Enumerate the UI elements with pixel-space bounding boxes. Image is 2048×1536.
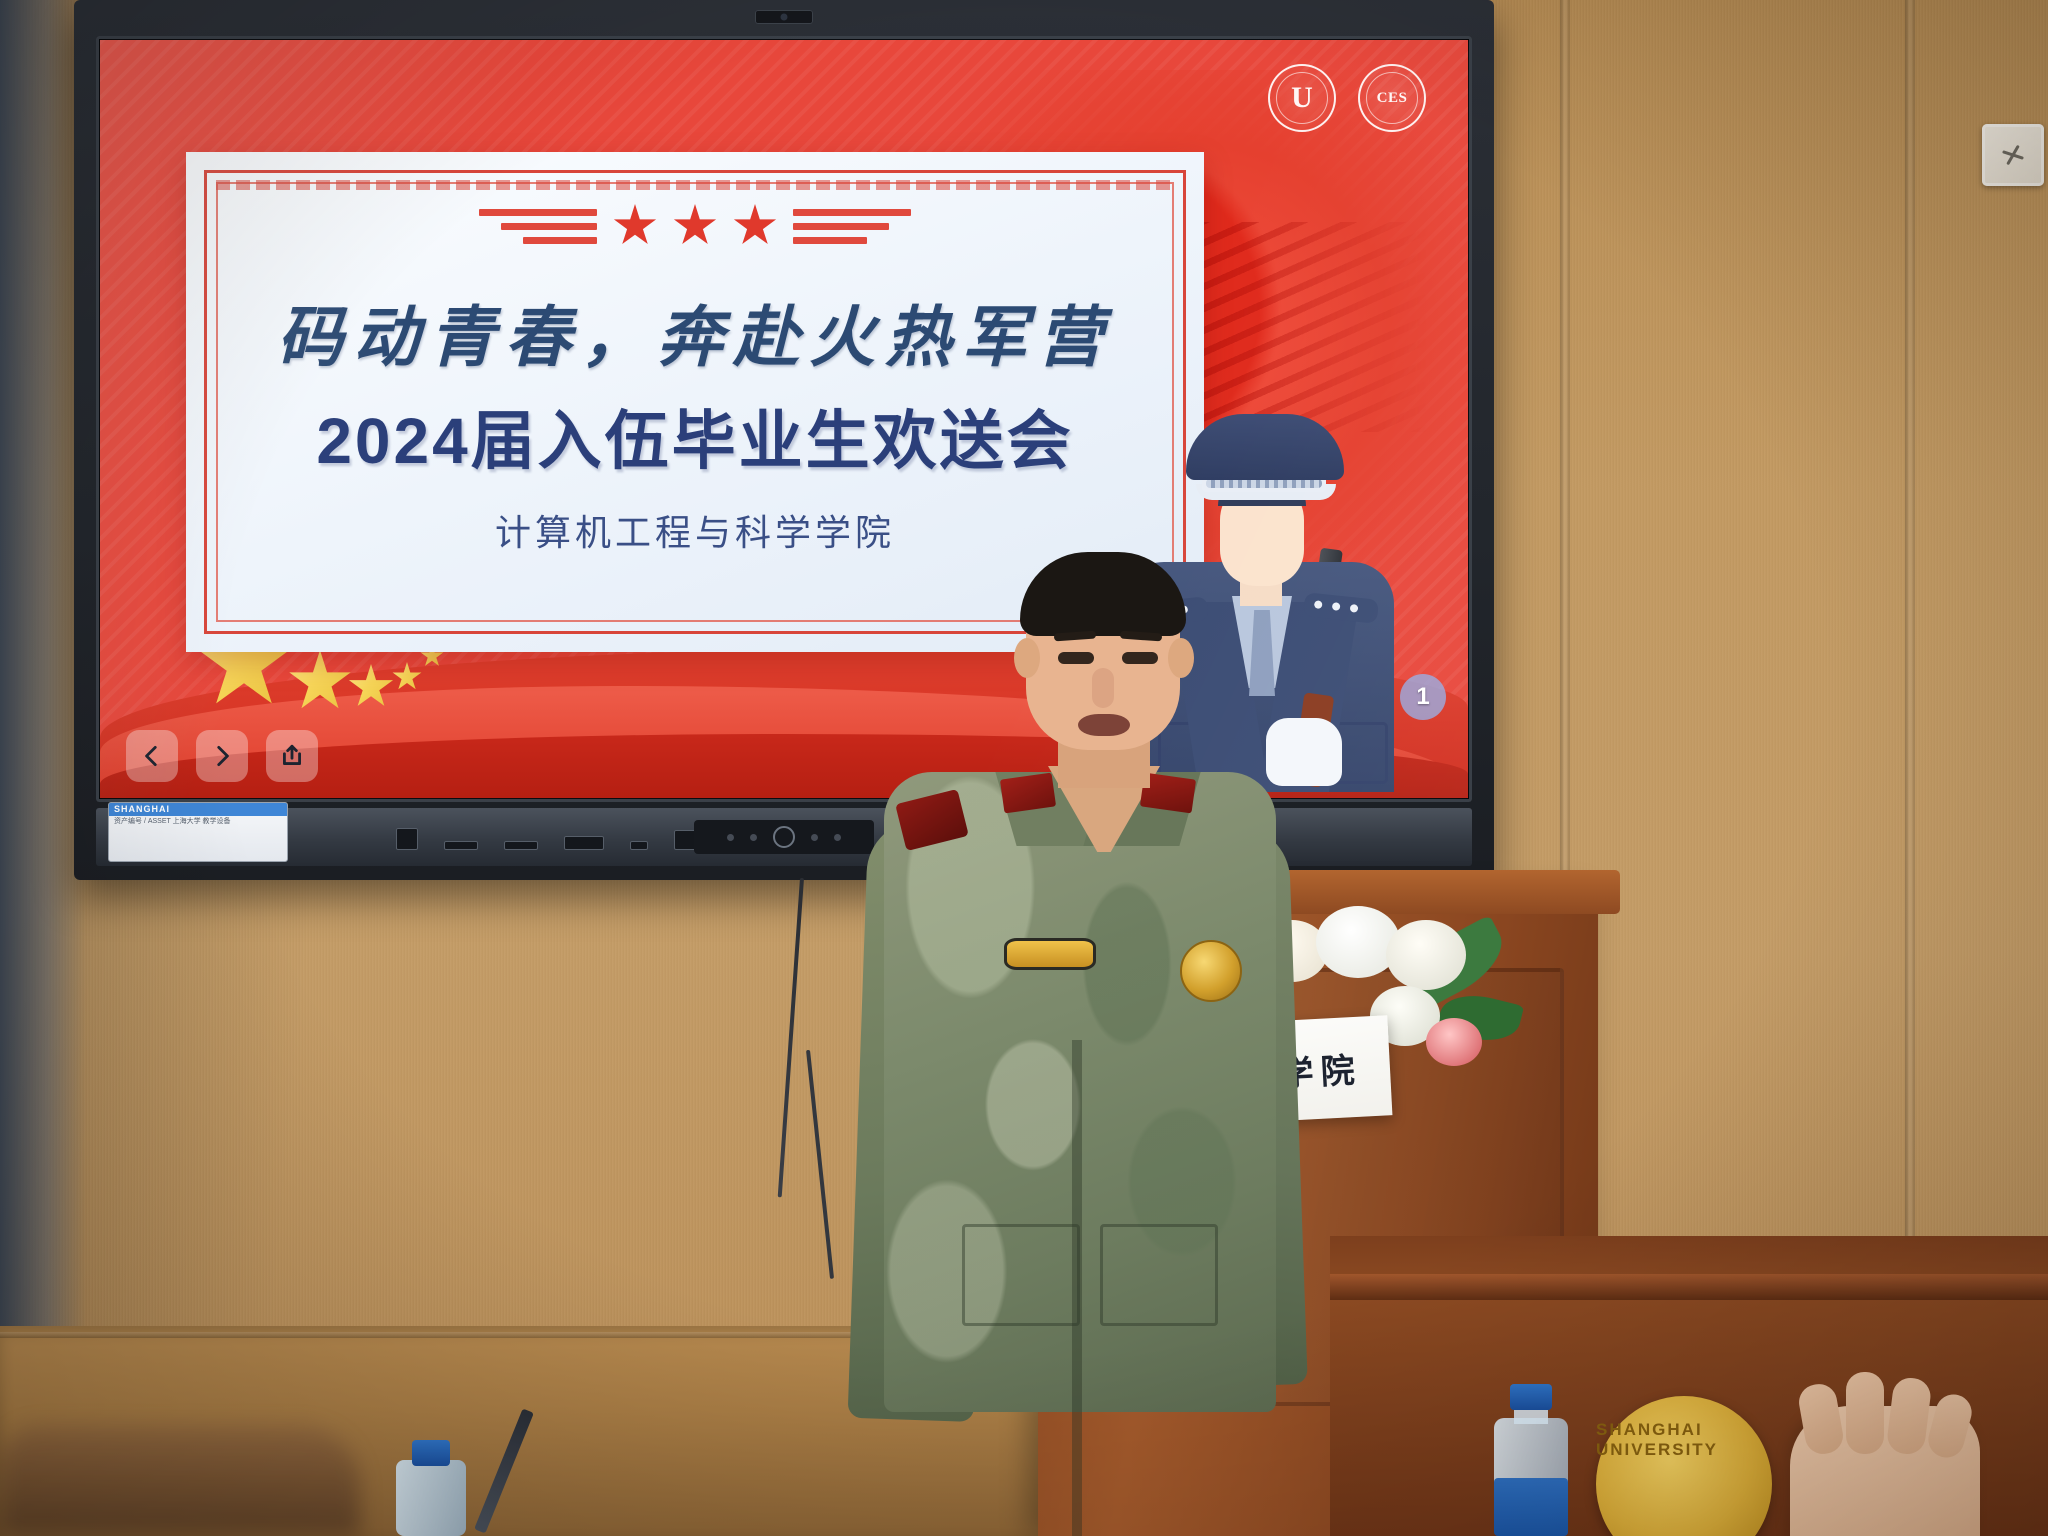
- speaker-eye: [1058, 652, 1094, 664]
- star-stripe-ornament: [479, 204, 911, 248]
- shanghai-university-logo: U: [1268, 64, 1336, 132]
- speaker-nose: [1092, 668, 1114, 708]
- slide-next-button[interactable]: [196, 730, 248, 782]
- display-control-panel[interactable]: [694, 820, 874, 854]
- bottle-body: [396, 1460, 466, 1536]
- speaker-ear: [1014, 638, 1040, 678]
- bottle-label: [1494, 1478, 1568, 1536]
- speaker-mouth: [1078, 714, 1130, 736]
- speaker-ear: [1168, 638, 1194, 678]
- desk-edge: [1330, 1274, 2048, 1300]
- webcam-icon: [755, 10, 813, 24]
- slide-headline: 码动青春，奔赴火热军营: [186, 284, 1204, 380]
- slide-prev-button[interactable]: [126, 730, 178, 782]
- computer-science-school-logo: CES: [1358, 64, 1426, 132]
- foreground-water-bottle: [396, 1440, 466, 1536]
- uniform-pocket: [962, 1224, 1080, 1326]
- red-star-icon: [613, 204, 657, 248]
- su-logo-glyph: U: [1291, 83, 1313, 113]
- bottle-cap: [1510, 1384, 1552, 1410]
- slide-subtitle: 2024届入伍毕业生欢送会: [186, 390, 1204, 482]
- ces-logo-glyph: CES: [1377, 91, 1408, 106]
- panel-top-ornament: [216, 180, 1174, 190]
- speaker-eye: [1122, 652, 1158, 664]
- wing-badge-icon: [1004, 938, 1096, 970]
- speaker-hair: [1020, 552, 1186, 636]
- collar-tab-insignia: [1000, 773, 1056, 814]
- red-star-icon: [733, 204, 777, 248]
- sticker-lines: 资产编号 / ASSET 上海大学 教学设备: [109, 815, 287, 830]
- stripe-group-left: [479, 209, 597, 244]
- bottle-cap: [412, 1440, 450, 1466]
- stripe-group-right: [793, 209, 911, 244]
- slide-navigation[interactable]: [126, 730, 318, 782]
- slide-organization: 计算机工程与科学学院: [186, 504, 1204, 556]
- speaker-person: [880, 560, 1280, 1536]
- interactive-flat-panel-display: U CES: [74, 0, 1494, 880]
- gold-medallion-icon: [1180, 940, 1242, 1002]
- emblem-text: SHANGHAI UNIVERSITY: [1596, 1420, 1772, 1460]
- slide-share-button[interactable]: [266, 730, 318, 782]
- power-button-icon[interactable]: [773, 826, 795, 848]
- red-star-icon: [673, 204, 717, 248]
- soldier-cap: [1186, 414, 1344, 480]
- photo-scene: U CES: [0, 0, 2048, 1536]
- slide-logos: U CES: [1268, 64, 1426, 132]
- asset-sticker: SHANGHAI 资产编号 / ASSET 上海大学 教学设备: [108, 802, 288, 862]
- cap-chain: [1206, 479, 1322, 488]
- power-socket-icon: [1982, 124, 2044, 186]
- water-bottle: [1488, 1386, 1574, 1536]
- speaker-uniform-torso: [884, 772, 1276, 1412]
- audience-hand: [1790, 1406, 1980, 1536]
- uniform-pocket: [1100, 1224, 1218, 1326]
- foreground-blur: [0, 1426, 360, 1536]
- sticker-title: SHANGHAI: [109, 803, 287, 815]
- slide-page-indicator: 1: [1400, 674, 1446, 720]
